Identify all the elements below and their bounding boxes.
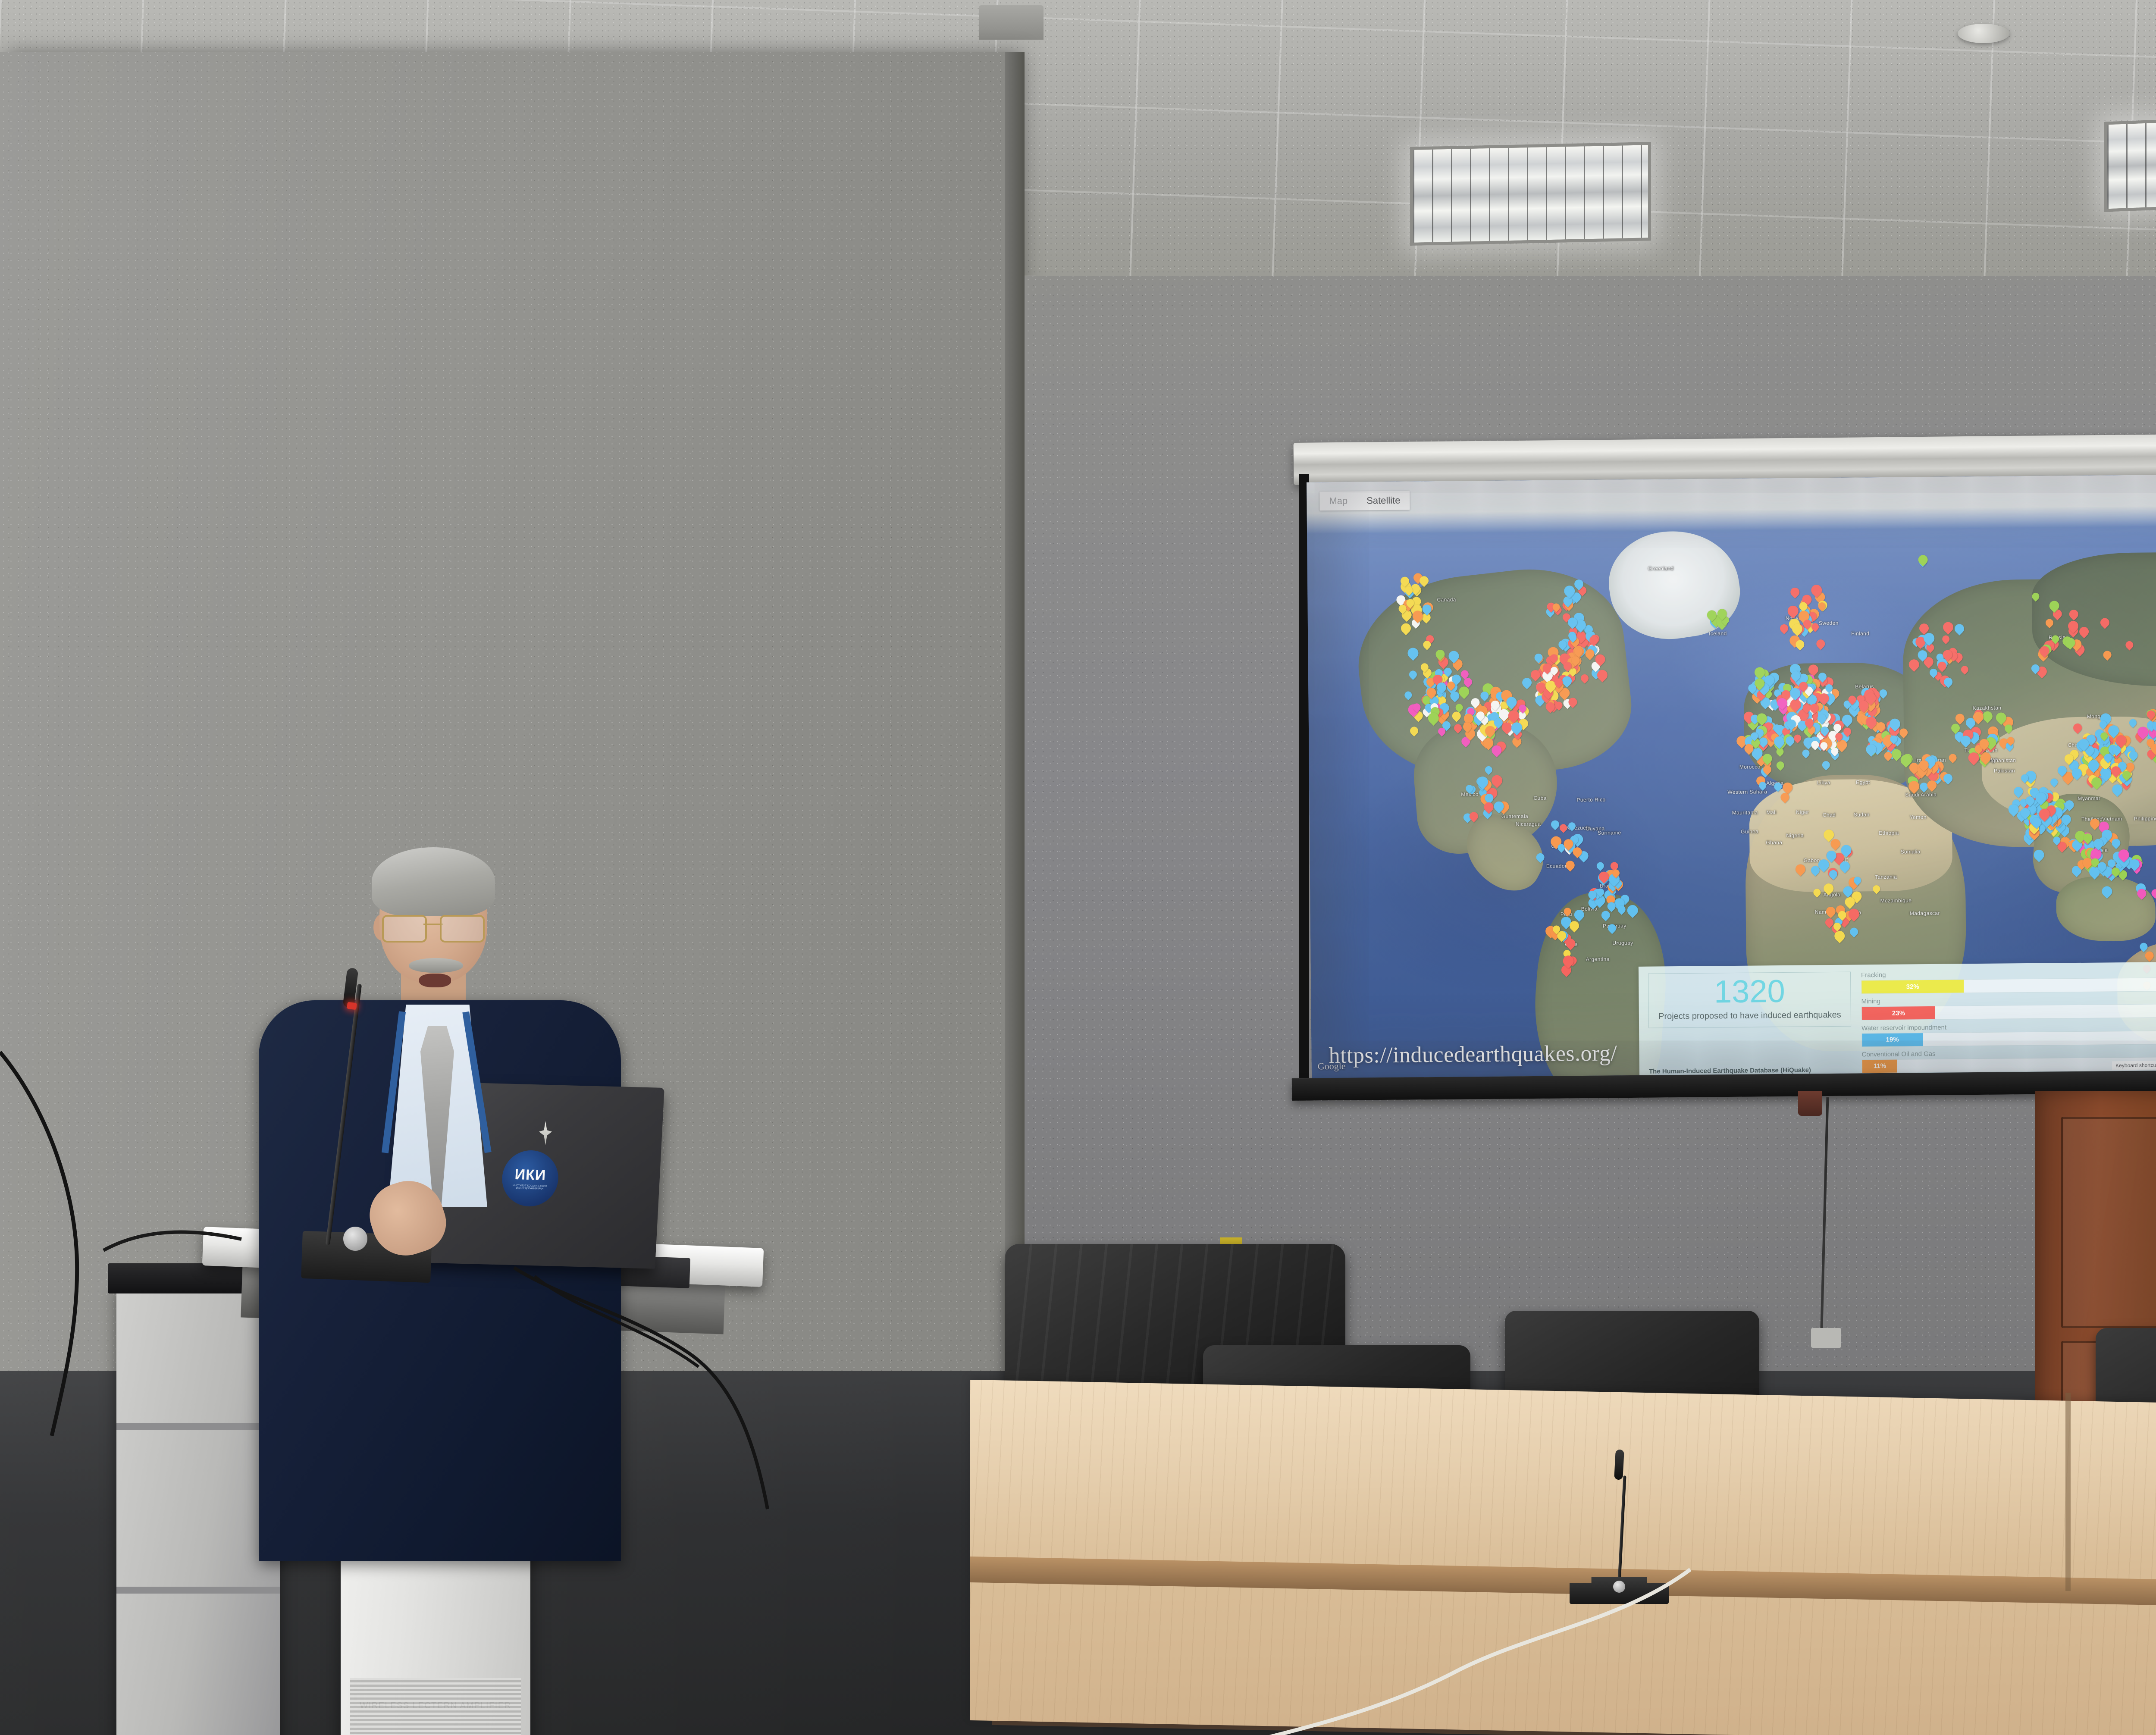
map-pin[interactable] [2093,839,2103,848]
map-pin[interactable] [1811,585,1822,596]
map-pin[interactable] [1455,704,1463,711]
map-pin[interactable] [2126,763,2134,771]
map-pin[interactable] [1835,733,1843,740]
map-pin[interactable] [1491,700,1500,709]
map-pin[interactable] [1842,714,1852,725]
map-pin[interactable] [1589,636,1598,644]
pillar-edge [1005,52,1025,1371]
map-pin[interactable] [1412,611,1423,621]
map-pin[interactable] [1774,783,1782,790]
map-place-label: Mozambique [1880,897,1912,904]
map-pin[interactable] [2091,849,2102,859]
map-pin[interactable] [2071,768,2081,778]
map-pin[interactable] [1759,737,1768,746]
map-pin[interactable] [1951,723,1960,732]
map-pin[interactable] [1938,661,1946,670]
map-pin[interactable] [1476,711,1485,720]
map-pin[interactable] [1751,732,1758,739]
map-pin[interactable] [1924,633,1935,643]
map-pin[interactable] [1563,662,1571,670]
map-pin[interactable] [1595,655,1605,664]
map-pin[interactable] [1568,617,1577,627]
map-pin[interactable] [1796,640,1805,648]
map-pin[interactable] [1507,697,1517,708]
map-pin[interactable] [2112,745,2121,754]
cause-bar-label: Water reservoir impoundment [1861,1022,2156,1032]
map-pin[interactable] [1843,886,1852,896]
map-pin[interactable] [1930,669,1937,676]
map-pin[interactable] [1919,623,1929,633]
map-place-label: Nicaragua [1516,821,1541,827]
map-pin[interactable] [1612,870,1620,877]
map-place-label: Canada [1437,597,1456,603]
map-pin[interactable] [1949,754,1956,761]
map-pin[interactable] [2147,710,2155,718]
map-pin[interactable] [1799,682,1808,690]
map-pin[interactable] [1838,911,1846,919]
map-pin[interactable] [1545,702,1554,711]
map-place-label: Puerto Rico [1576,797,1605,803]
map-pin[interactable] [1821,727,1829,735]
map-pin[interactable] [2026,796,2034,805]
map-pin[interactable] [1877,722,1885,731]
map-pin[interactable] [1717,609,1727,618]
map-pin[interactable] [2020,808,2030,817]
map-pin[interactable] [1866,744,1877,755]
map-pin[interactable] [1406,599,1414,607]
map-pin[interactable] [1865,693,1876,704]
map-place-label: Guinea [1741,828,1758,834]
map-pin[interactable] [1802,750,1809,757]
map-pin[interactable] [1569,634,1576,641]
map-place-label: Nigeria [1786,833,1804,839]
map-pin[interactable] [1581,674,1589,682]
map-pin[interactable] [1555,702,1562,709]
map-pin[interactable] [1564,596,1573,605]
map-place-label: Mauritania [1732,809,1758,816]
map-pin[interactable] [1763,765,1771,774]
map-pin[interactable] [1748,684,1756,692]
map-pin[interactable] [1884,752,1892,760]
map-pin[interactable] [1845,897,1855,907]
map-pin[interactable] [1918,650,1927,660]
map-pin[interactable] [1833,724,1841,732]
map-pin[interactable] [1840,861,1850,871]
map-pin[interactable] [1483,738,1493,748]
map-pin[interactable] [1585,649,1594,658]
map-pin[interactable] [1780,624,1788,633]
map-pin[interactable] [2084,833,2093,842]
map-pin[interactable] [1463,722,1472,731]
map-pin[interactable] [2021,774,2028,782]
map-pin[interactable] [1428,713,1438,723]
map-pin[interactable] [1608,924,1616,933]
map-pin[interactable] [1405,587,1413,595]
map-pin[interactable] [1597,862,1604,870]
map-pin[interactable] [2035,792,2046,803]
map-pin[interactable] [1927,780,1937,790]
map-pin[interactable] [1427,688,1436,697]
map-pin[interactable] [1575,648,1583,656]
map-place-label: Gabon [1804,857,1820,863]
map-pin[interactable] [1955,714,1965,723]
map-pin[interactable] [1485,726,1495,736]
map-pin[interactable] [1564,586,1575,596]
map-pin[interactable] [1494,718,1503,727]
map-pin[interactable] [1791,671,1800,680]
map-pin[interactable] [2007,737,2014,745]
screen-pull-tab[interactable] [1798,1091,1822,1116]
map-pin[interactable] [1942,635,1949,642]
map-pin[interactable] [1627,905,1638,916]
map-pin[interactable] [1899,728,1908,736]
map-pin[interactable] [1459,686,1469,697]
map-pin[interactable] [1508,711,1519,721]
map-pin[interactable] [1955,624,1964,634]
map-pin[interactable] [1405,691,1412,698]
map-pin[interactable] [1574,910,1584,920]
map-pin[interactable] [1818,673,1827,681]
map-pin[interactable] [1850,927,1858,936]
lectern-cable [509,1268,811,1526]
map-pin[interactable] [2034,850,2044,860]
map-pin[interactable] [1553,925,1560,933]
map-pin[interactable] [1873,885,1880,893]
map-pin[interactable] [1572,656,1580,664]
map-pin[interactable] [1996,712,2006,723]
map-pin[interactable] [1891,749,1901,759]
map-pin[interactable] [1811,741,1819,748]
map-pin[interactable] [1563,955,1573,966]
map-pin[interactable] [1502,722,1512,732]
map-pin[interactable] [1597,670,1608,680]
map-pin[interactable] [1854,877,1861,884]
map-pin[interactable] [1707,611,1716,620]
map-pin[interactable] [1492,775,1502,786]
map-pin[interactable] [1449,651,1459,661]
map-pin[interactable] [1759,782,1766,789]
map-pin[interactable] [1570,921,1579,930]
map-pin[interactable] [1550,654,1558,662]
map-pin[interactable] [2100,618,2109,627]
map-pin[interactable] [1819,693,1829,703]
map-pin[interactable] [1822,761,1830,769]
map-pin[interactable] [1774,736,1784,746]
map-pin[interactable] [2062,814,2071,824]
map-pin[interactable] [1452,712,1461,720]
map-pin[interactable] [2005,724,2012,732]
map-pin[interactable] [1617,906,1625,914]
map-pin[interactable] [1597,888,1604,896]
map-pin[interactable] [2145,952,2153,960]
map-pin[interactable] [2100,769,2111,779]
map-pin[interactable] [2111,766,2120,776]
map-pin[interactable] [1811,623,1818,630]
map-pin[interactable] [1562,676,1572,686]
map-pin[interactable] [1918,555,1928,564]
map-place-label: Cuba [1533,795,1546,801]
map-pin[interactable] [1551,821,1559,829]
map-pin[interactable] [1399,605,1407,613]
map-pin[interactable] [1757,713,1767,723]
map-pin[interactable] [2129,859,2139,869]
map-place-label: Saudi Arabia [1905,792,1937,798]
map-pin[interactable] [1805,718,1814,727]
laptop-logo-subtext: ИНСТИТУТ КОСМИЧЕСКИХ ИССЛЕДОВАНИЙ РАН [510,1184,550,1191]
map-pin[interactable] [1816,639,1825,648]
map-pin[interactable] [1808,664,1818,674]
map-pin[interactable] [1566,861,1575,870]
map-pin[interactable] [1968,752,1979,763]
map-pin[interactable] [2053,836,2061,844]
map-pin[interactable] [1452,674,1461,683]
map-pin[interactable] [1802,705,1810,712]
map-pin[interactable] [1826,907,1836,916]
map-pin[interactable] [1783,783,1792,792]
map-pin[interactable] [1849,908,1859,919]
map-pin[interactable] [1608,902,1616,910]
map-pin[interactable] [1744,744,1753,753]
map-pin[interactable] [1588,890,1596,899]
map-pin[interactable] [1611,862,1618,870]
map-pin[interactable] [1818,602,1825,610]
map-pin[interactable] [2102,886,2112,896]
map-type-satellite-button[interactable]: Satellite [1357,491,1410,510]
map-pin[interactable] [1420,576,1429,585]
map-pin[interactable] [1454,724,1462,732]
map-pin[interactable] [2052,635,2059,642]
map-pin[interactable] [1573,847,1582,856]
map-pin[interactable] [1551,667,1558,674]
map-pin[interactable] [2112,784,2122,795]
map-pin[interactable] [2050,779,2058,786]
map-pin[interactable] [2078,739,2089,749]
map-pin[interactable] [1820,742,1827,749]
map-attribution-item: Keyboard shortcuts [2112,1061,2156,1070]
map-pin[interactable] [1834,930,1845,941]
map-pin[interactable] [1889,719,1900,730]
map-pin[interactable] [1531,670,1540,679]
map-pin[interactable] [1407,648,1418,659]
map-pin[interactable] [1421,663,1429,671]
map-pin[interactable] [2115,735,2126,746]
map-pin[interactable] [1865,717,1876,727]
map-pin[interactable] [1423,604,1432,614]
map-pin[interactable] [1909,659,1919,670]
map-pin[interactable] [1553,603,1560,611]
map-pin[interactable] [1413,703,1420,711]
map-pin[interactable] [1831,748,1838,755]
cause-bar-chart: Fracking32%Mining23%Water reservoir impo… [1861,969,2156,1074]
map-pin[interactable] [2039,809,2049,820]
map-pin[interactable] [2065,800,2074,809]
map-pin[interactable] [1534,653,1542,661]
map-pin[interactable] [1794,735,1801,742]
map-pin[interactable] [1787,720,1796,729]
map-pin[interactable] [2079,627,2089,636]
map-pin[interactable] [1848,695,1856,703]
map-pin[interactable] [1961,736,1971,745]
map-pin[interactable] [1755,667,1765,678]
map-pin[interactable] [1564,908,1571,915]
map-pin[interactable] [1558,640,1567,648]
map-pin[interactable] [1494,802,1504,811]
map-pin[interactable] [1423,641,1431,648]
map-pin[interactable] [1792,623,1802,634]
map-pin[interactable] [2088,760,2099,770]
map-pin[interactable] [2100,721,2107,728]
map-pin[interactable] [2152,889,2156,897]
map-pin[interactable] [2049,601,2059,611]
map-pin[interactable] [1983,711,1993,721]
map-pin[interactable] [1824,883,1833,893]
map-pin[interactable] [1919,760,1928,770]
map-pin[interactable] [1790,588,1799,597]
map-pin[interactable] [1944,677,1952,686]
map-pin[interactable] [1566,939,1575,948]
cause-bar-label: Fracking [1861,969,2156,979]
map-pin[interactable] [1777,748,1784,755]
map-pin[interactable] [1818,714,1826,723]
lectern-microphone-knob[interactable] [343,1227,367,1251]
map-pin[interactable] [2104,754,2112,761]
map-pin[interactable] [2129,751,2137,760]
map-pin[interactable] [1973,712,1984,722]
map-pin[interactable] [1961,666,1968,673]
map-pin[interactable] [2137,889,2147,898]
map-pin[interactable] [1777,761,1784,769]
map-pin[interactable] [1813,889,1821,896]
map-pin[interactable] [1830,839,1840,848]
map-pin[interactable] [1559,824,1567,832]
map-pin[interactable] [1536,853,1545,861]
map-pin[interactable] [2073,723,2082,732]
map-pin[interactable] [1879,689,1887,697]
map-pin[interactable] [1890,735,1897,742]
map-pin[interactable] [1790,699,1801,710]
map-pin[interactable] [2058,766,2067,775]
map-type-map-button[interactable]: Map [1319,492,1357,511]
map-pin[interactable] [2090,818,2100,828]
map-pin[interactable] [1568,822,1576,830]
map-pin[interactable] [1841,845,1852,855]
cause-bar-fill: 23% [1862,1006,1935,1020]
map-pin[interactable] [2031,664,2040,673]
map-pin[interactable] [1781,793,1789,802]
map-pin[interactable] [1979,739,1989,748]
map-pin[interactable] [2068,621,2078,631]
map-pin[interactable] [1450,692,1459,701]
map-pin[interactable] [1599,872,1609,882]
map-pin[interactable] [1777,698,1787,708]
presenter-hair [372,847,495,916]
map-pin[interactable] [2032,593,2039,600]
map-pin[interactable] [2118,849,2129,860]
map-place-label: Pakistan [1994,767,2015,774]
map-pin[interactable] [1601,911,1610,919]
map-pin[interactable] [1438,728,1445,735]
map-pin[interactable] [2108,725,2119,736]
map-pin[interactable] [1568,698,1577,706]
map-pin[interactable] [1843,728,1851,736]
map-type-control[interactable]: Map Satellite [1319,491,1410,510]
map-pin[interactable] [1799,602,1808,611]
map-pin[interactable] [2046,619,2053,627]
map-pin[interactable] [1825,684,1833,692]
map-pin[interactable] [2014,787,2023,796]
map-pin[interactable] [1401,576,1409,585]
map-pin[interactable] [2097,862,2106,871]
map-pin[interactable] [1564,839,1573,849]
map-pin[interactable] [1908,781,1919,792]
map-place-label: Greenland [1648,565,1674,572]
map-pin[interactable] [1461,670,1469,678]
map-pin[interactable] [2065,638,2075,648]
map-pin[interactable] [1810,704,1818,712]
map-pin[interactable] [1574,579,1583,589]
map-pin[interactable] [1409,670,1417,678]
map-pin[interactable] [1943,650,1952,660]
conference-room-scene: ВЫХОД DA-LITE CanadaGreenlandIcelandSwed… [0,0,2156,1735]
map-pin[interactable] [1763,754,1772,763]
map-pin[interactable] [1477,777,1488,787]
map-pin[interactable] [1410,727,1418,735]
map-pin[interactable] [1511,722,1522,733]
map-pin[interactable] [1485,766,1492,773]
map-pin[interactable] [2065,754,2074,763]
cause-bar-track: 23% [1861,1004,2156,1020]
map-pin[interactable] [2129,719,2137,726]
map-place-label: Uruguay [1612,940,1633,946]
map-pin[interactable] [1795,864,1805,874]
map-pin[interactable] [1818,859,1829,870]
map-pin[interactable] [1554,679,1563,687]
laptop-logo-text: ИКИ [514,1166,547,1184]
map-pin[interactable] [2103,651,2111,659]
map-pin[interactable] [1444,667,1451,675]
map-pin[interactable] [2112,839,2120,848]
map-pin[interactable] [2122,771,2131,779]
map-pin[interactable] [1484,802,1494,812]
map-pin[interactable] [1803,620,1811,628]
map-pin[interactable] [1436,649,1445,658]
map-pin[interactable] [1485,794,1494,802]
map-pin[interactable] [1787,606,1798,617]
map-pin[interactable] [1464,678,1472,686]
map-pin[interactable] [2151,744,2156,753]
map-pin[interactable] [1825,918,1833,927]
floor-cable [1250,1569,1854,1735]
map-pin[interactable] [1827,850,1836,860]
map-pin[interactable] [2112,867,2120,876]
map-pin[interactable] [1943,774,1952,783]
map-pin[interactable] [1466,785,1473,792]
map-pin[interactable] [1522,678,1532,687]
map-pin[interactable] [1829,870,1837,878]
map-pin[interactable] [2069,610,2078,619]
map-pin[interactable] [1401,623,1411,633]
map-pin[interactable] [2100,733,2108,740]
map-pin[interactable] [1470,812,1478,821]
map-pin[interactable] [1833,923,1841,930]
map-pin[interactable] [1519,705,1526,712]
map-pin[interactable] [2040,646,2049,656]
map-pin[interactable] [1943,622,1953,632]
map-pin[interactable] [1481,692,1489,700]
map-pin[interactable] [2126,641,2134,649]
map-pin[interactable] [2140,943,2148,950]
map-pin[interactable] [1437,683,1446,692]
